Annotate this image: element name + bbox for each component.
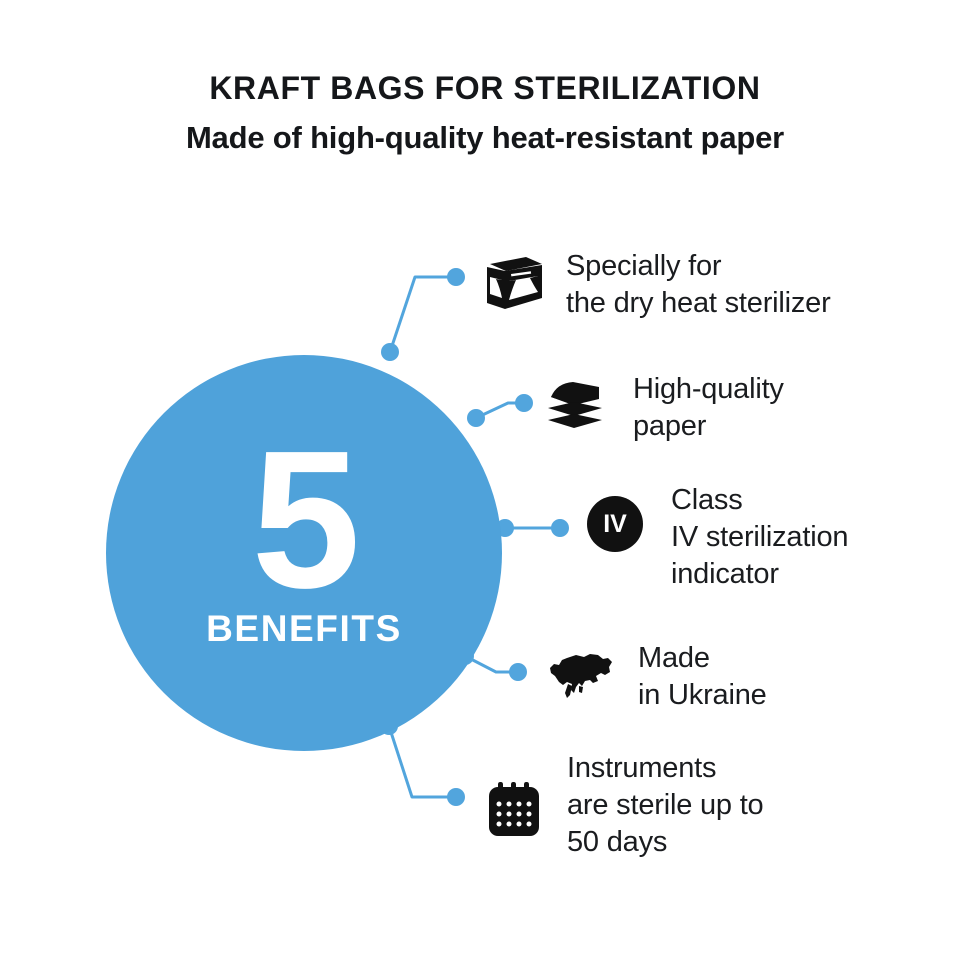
infographic-canvas: KRAFT BAGS FOR STERILIZATION Made of hig… (0, 0, 970, 970)
ukraine-map-icon (546, 646, 614, 702)
dry-heat-sterilizer-icon (478, 250, 546, 316)
class-iv-badge-icon: IV (586, 495, 644, 553)
benefit-item-2[interactable]: High-quality paper (543, 371, 784, 445)
benefit-label-1: Specially for the dry heat sterilizer (566, 248, 831, 322)
connector-2 (467, 394, 533, 427)
benefit-label-5: Instruments are sterile up to 50 days (567, 750, 764, 861)
paper-stack-icon (543, 379, 605, 435)
benefit-label-3: Class IV sterilization indicator (671, 482, 848, 593)
benefits-hub-circle: 5 BENEFITS (106, 355, 502, 751)
hub-number: 5 (251, 436, 356, 605)
class-iv-badge-text: IV (603, 510, 627, 538)
benefit-item-1[interactable]: Specially for the dry heat sterilizer (478, 248, 831, 322)
benefit-item-5[interactable]: Instruments are sterile up to 50 days (485, 750, 764, 861)
benefit-item-4[interactable]: Made in Ukraine (546, 640, 767, 714)
benefit-label-4: Made in Ukraine (638, 640, 767, 714)
page-subtitle: Made of high-quality heat-resistant pape… (0, 119, 970, 156)
connector-3 (496, 519, 569, 537)
benefit-item-3[interactable]: IV Class IV sterilization indicator (586, 482, 848, 593)
calendar-icon (485, 782, 543, 842)
benefit-label-2: High-quality paper (633, 371, 784, 445)
connector-1 (381, 268, 465, 361)
connector-5 (380, 717, 465, 806)
hub-label: BENEFITS (206, 608, 402, 650)
header: KRAFT BAGS FOR STERILIZATION Made of hig… (0, 70, 970, 156)
page-title: KRAFT BAGS FOR STERILIZATION (0, 70, 970, 108)
